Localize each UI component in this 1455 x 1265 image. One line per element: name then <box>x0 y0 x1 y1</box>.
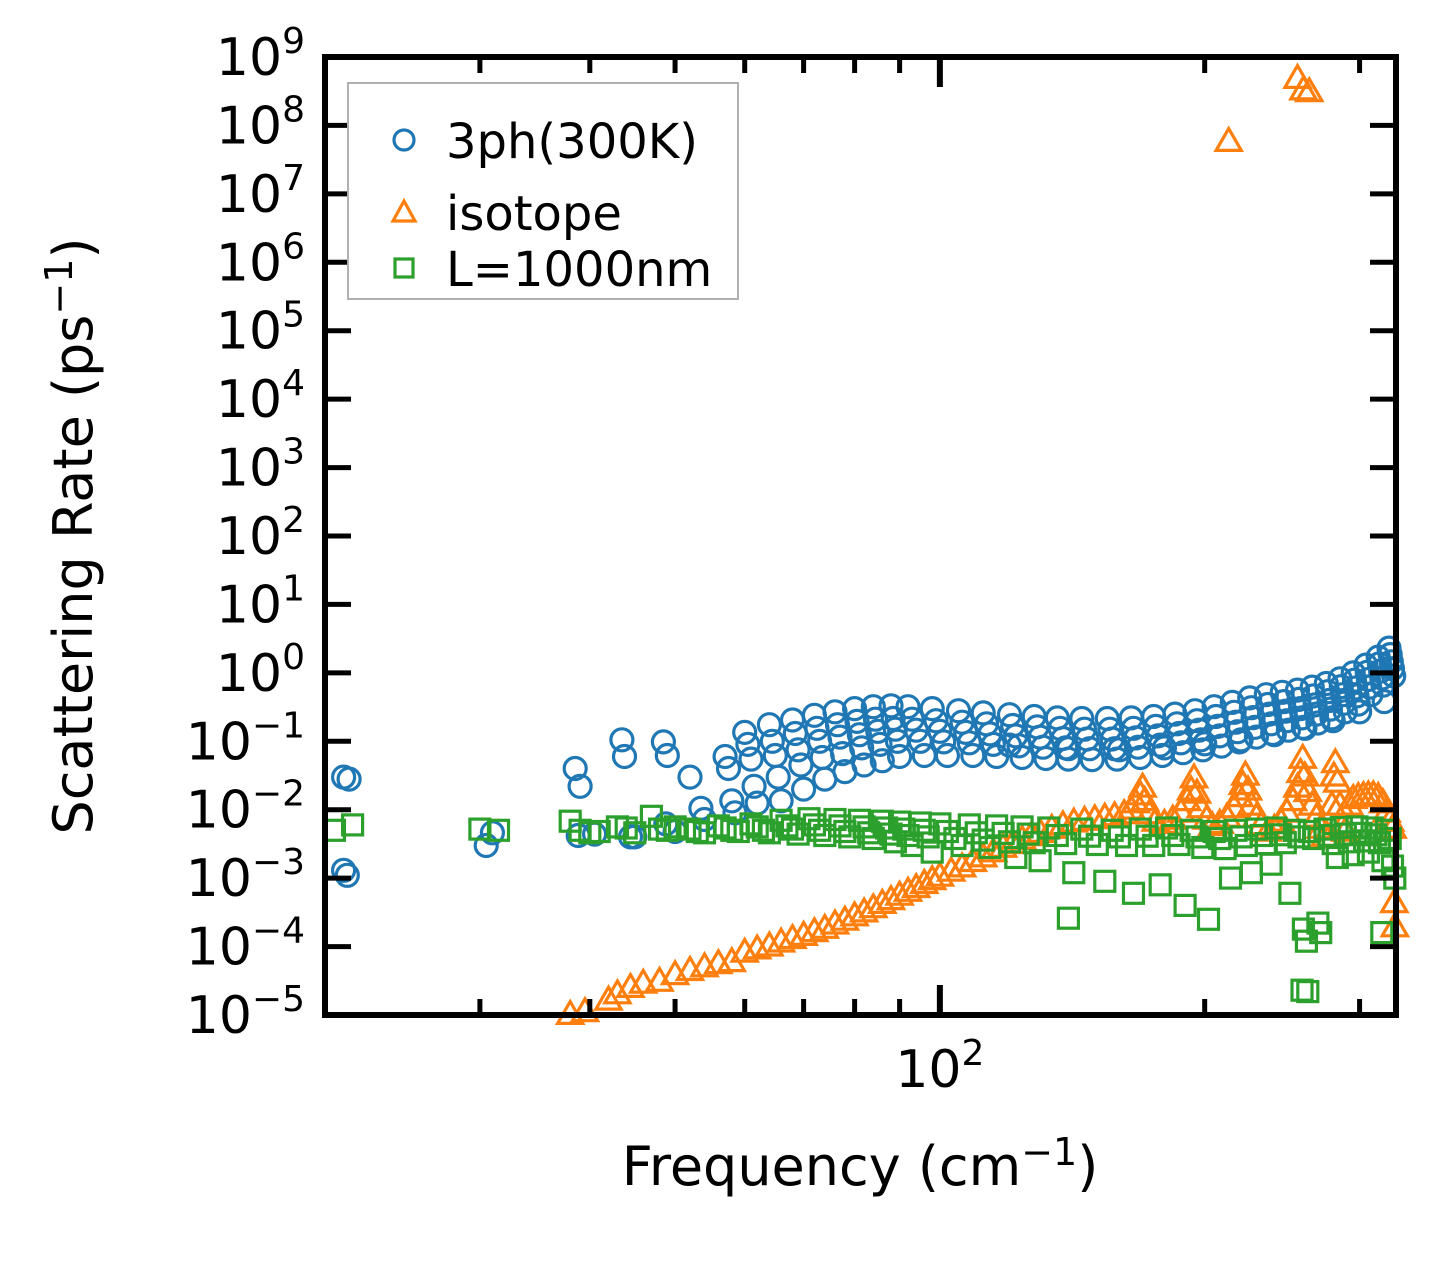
figure-canvas: 10910810710610510410310210110010−110−210… <box>0 0 1455 1265</box>
legend[interactable]: 3ph(300K)isotopeL=1000nm <box>348 83 738 299</box>
scatter-plot-svg: 10910810710610510410310210110010−110−210… <box>0 0 1455 1265</box>
legend-label[interactable]: 3ph(300K) <box>446 114 698 170</box>
legend-label[interactable]: L=1000nm <box>446 242 712 298</box>
y-axis-label: Scattering Rate (ps−1) <box>37 237 105 834</box>
legend-label[interactable]: isotope <box>446 186 622 242</box>
